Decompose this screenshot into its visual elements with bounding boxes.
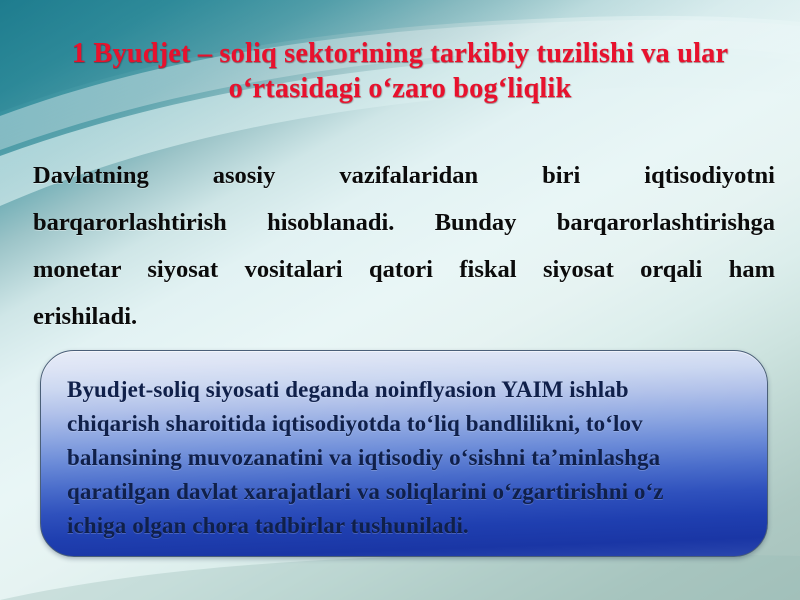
callout-line-5: ichiga olgan chora tadbirlar tushuniladi… bbox=[67, 509, 741, 543]
slide-title: 1 Byudjet – soliq sektorining tarkibiy t… bbox=[44, 36, 756, 107]
callout-line-1: Byudjet-soliq siyosati deganda noinflyas… bbox=[67, 373, 741, 407]
presentation-slide: 1 Byudjet – soliq sektorining tarkibiy t… bbox=[0, 0, 800, 600]
body-line-1: Davlatning asosiy vazifalaridan biri iqt… bbox=[33, 152, 775, 199]
callout-box: Byudjet-soliq siyosati deganda noinflyas… bbox=[40, 350, 768, 557]
body-line-4: erishiladi. bbox=[33, 293, 775, 340]
callout-line-3: balansining muvozanatini va iqtisodiy o‘… bbox=[67, 441, 741, 475]
slide-title-line-1: 1 Byudjet – soliq sektorining tarkibiy t… bbox=[44, 36, 756, 71]
slide-body-paragraph: Davlatning asosiy vazifalaridan biri iqt… bbox=[33, 152, 775, 340]
callout-line-2: chiqarish sharoitida iqtisodiyotda to‘li… bbox=[67, 407, 741, 441]
body-line-2: barqarorlashtirish hisoblanadi. Bunday b… bbox=[33, 199, 775, 246]
callout-line-4: qaratilgan davlat xarajatlari va soliqla… bbox=[67, 475, 741, 509]
body-line-3: monetar siyosat vositalari qatori fiskal… bbox=[33, 246, 775, 293]
slide-title-line-2: o‘rtasidagi o‘zaro bog‘liqlik bbox=[44, 71, 756, 106]
